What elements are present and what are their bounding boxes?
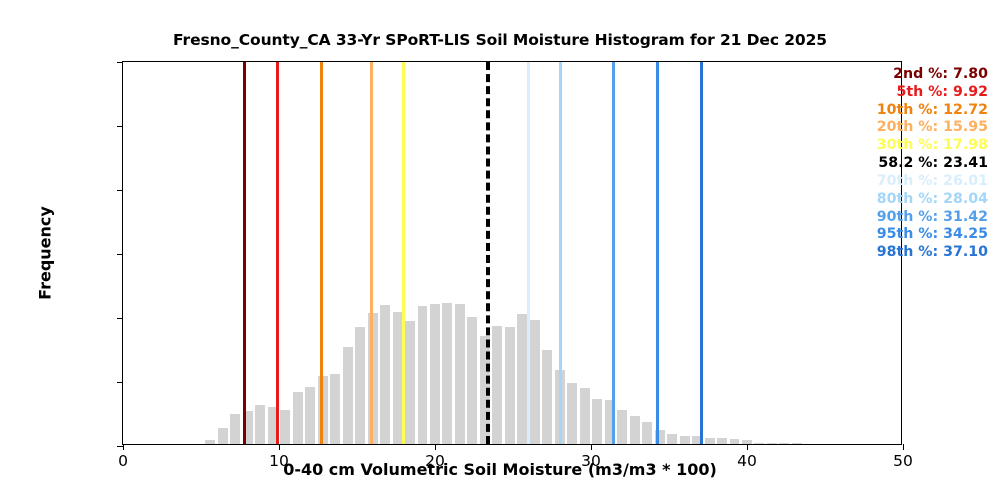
percentile-lines <box>123 62 901 444</box>
x-axis-tick-mark <box>903 444 904 450</box>
percentile-line-90th <box>612 62 615 444</box>
plot-area: Frequency 010000200003000040000500006000… <box>122 61 902 445</box>
y-axis-tick-mark <box>117 254 123 255</box>
legend-entry: 58.2 %: 23.41 <box>877 155 988 173</box>
y-axis-label: Frequency <box>36 206 55 300</box>
y-axis-tick-mark <box>117 318 123 319</box>
percentile-line-20th <box>370 62 373 444</box>
percentile-line-58-2 <box>486 62 490 444</box>
percentile-line-95th <box>656 62 659 444</box>
legend-entry: 90th %: 31.42 <box>877 209 988 227</box>
percentile-line-98th <box>700 62 703 444</box>
legend-entry: 98th %: 37.10 <box>877 244 988 262</box>
legend-entry: 70th %: 26.01 <box>877 173 988 191</box>
x-axis-tick-mark <box>279 444 280 450</box>
y-axis-tick-mark <box>117 62 123 63</box>
legend-entry: 80th %: 28.04 <box>877 191 988 209</box>
percentile-line-80th <box>559 62 562 444</box>
x-axis-tick-mark <box>435 444 436 450</box>
percentile-line-30th <box>402 62 405 444</box>
y-axis-tick-mark <box>117 190 123 191</box>
legend-entry: 30th %: 17.98 <box>877 137 988 155</box>
chart-title: Fresno_County_CA 33-Yr SPoRT-LIS Soil Mo… <box>0 31 1000 49</box>
percentile-line-2nd <box>243 62 246 444</box>
percentile-legend: 2nd %: 7.805th %: 9.9210th %: 12.7220th … <box>877 66 988 262</box>
y-axis-tick-mark <box>117 126 123 127</box>
percentile-line-5th <box>276 62 279 444</box>
x-axis-label: 0-40 cm Volumetric Soil Moisture (m3/m3 … <box>0 460 1000 479</box>
histogram-figure: Fresno_County_CA 33-Yr SPoRT-LIS Soil Mo… <box>0 0 1000 500</box>
x-axis-tick-mark <box>747 444 748 450</box>
legend-entry: 95th %: 34.25 <box>877 226 988 244</box>
legend-entry: 2nd %: 7.80 <box>877 66 988 84</box>
x-axis-tick-mark <box>123 444 124 450</box>
x-axis-tick-mark <box>591 444 592 450</box>
percentile-line-70th <box>527 62 530 444</box>
legend-entry: 20th %: 15.95 <box>877 119 988 137</box>
legend-entry: 10th %: 12.72 <box>877 102 988 120</box>
percentile-line-10th <box>320 62 323 444</box>
legend-entry: 5th %: 9.92 <box>877 84 988 102</box>
y-axis-tick-mark <box>117 382 123 383</box>
